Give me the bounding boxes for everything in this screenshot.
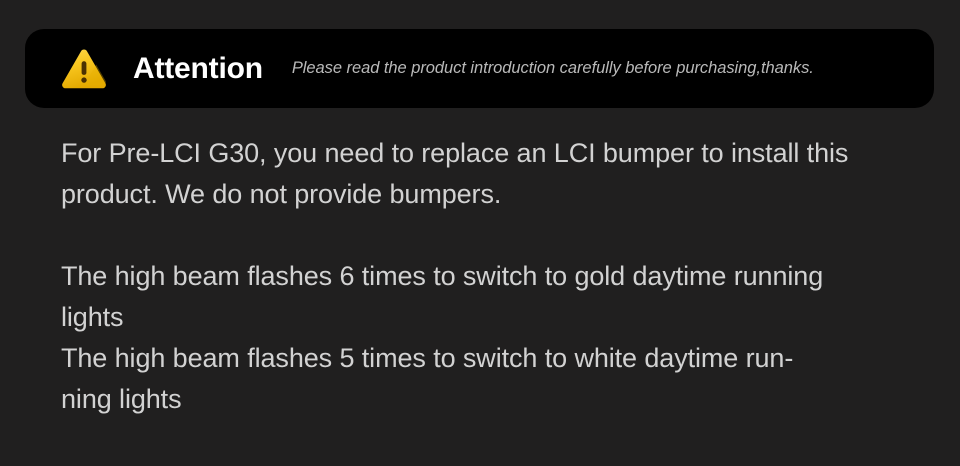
paragraph-line: For Pre-LCI G30, you need to replace an … — [61, 133, 916, 174]
warning-triangle-icon — [61, 48, 107, 90]
paragraph-line: lights — [61, 297, 916, 338]
paragraph-line: product. We do not provide bumpers. — [61, 174, 916, 215]
paragraph-high-beam-instructions: The high beam flashes 6 times to switch … — [61, 256, 916, 420]
attention-banner: Attention Please read the product introd… — [25, 29, 934, 108]
paragraph-line: ning lights — [61, 379, 916, 420]
paragraph-line: The high beam flashes 5 times to switch … — [61, 338, 916, 379]
paragraph-line: The high beam flashes 6 times to switch … — [61, 256, 916, 297]
product-notice-page: Attention Please read the product introd… — [0, 0, 960, 466]
attention-subtitle: Please read the product introduction car… — [292, 59, 814, 78]
attention-title: Attention — [133, 52, 263, 86]
paragraph-bumper-notice: For Pre-LCI G30, you need to replace an … — [61, 133, 916, 215]
notice-body: For Pre-LCI G30, you need to replace an … — [61, 133, 916, 420]
paragraph-spacer — [61, 215, 916, 256]
